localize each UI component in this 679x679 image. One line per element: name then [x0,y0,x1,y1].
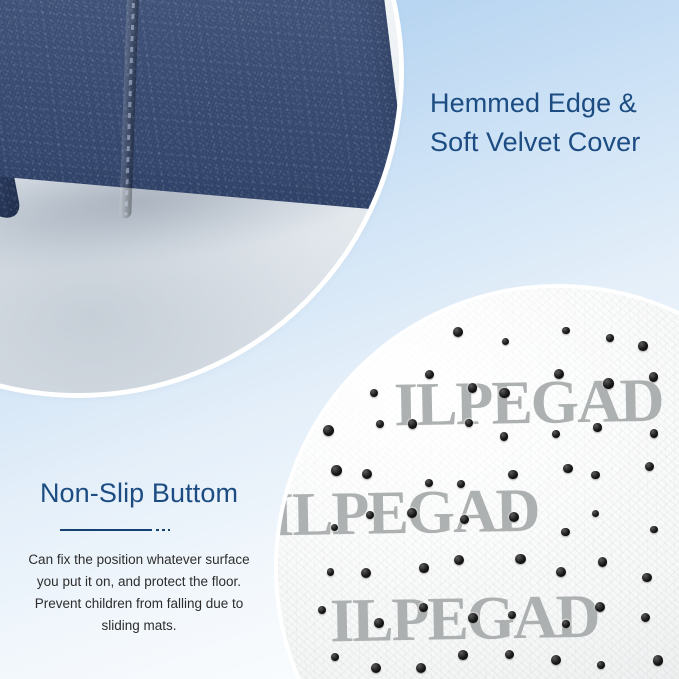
description-line-3: Prevent children from falling due to [14,593,264,615]
anti-slip-dot [653,655,664,666]
anti-slip-dot [515,554,525,564]
anti-slip-dot [460,515,469,524]
anti-slip-dot [593,423,601,431]
anti-slip-dot [407,508,417,518]
heading-line-1: Hemmed Edge & [430,84,679,123]
anti-slip-dot [419,603,428,612]
anti-slip-dot [499,388,509,398]
hemmed-edge-heading: Hemmed Edge & Soft Velvet Cover [430,84,679,162]
anti-slip-dot [603,378,614,389]
anti-slip-dot [642,573,652,583]
anti-slip-dot [327,568,334,575]
non-slip-title: Non-Slip Buttom [14,478,264,509]
anti-slip-dot [650,429,659,438]
anti-slip-dot [376,420,384,428]
anti-slip-dot [416,663,426,673]
anti-slip-dot [562,620,570,628]
anti-slip-dot [641,613,650,622]
anti-slip-dot [362,469,372,479]
anti-slip-dot [508,611,516,619]
anti-slip-dot [454,555,464,565]
non-slip-text-block: Non-Slip Buttom Can fix the position wha… [14,478,264,636]
description-line-4: sliding mats. [14,615,264,637]
anti-slip-dot [458,650,468,660]
anti-slip-dot [457,480,465,488]
anti-slip-dot [508,470,517,479]
anti-slip-dot [500,432,508,440]
anti-slip-dot [408,419,417,428]
anti-slip-dot [551,655,561,665]
non-slip-description: Can fix the position whatever surface yo… [14,549,264,636]
anti-slip-dot [331,524,339,532]
velvet-pile-texture [0,0,399,213]
anti-slip-dot [562,327,569,334]
cushion-front-panel [0,0,399,213]
anti-slip-dot [591,471,600,480]
anti-slip-dot [425,370,434,379]
anti-slip-dot [649,372,658,381]
anti-slip-dot [606,334,614,342]
divider-dots [156,529,170,531]
anti-slip-dot [505,650,514,659]
anti-slip-dot [592,510,599,517]
description-line-1: Can fix the position whatever surface [14,549,264,571]
anti-slip-dot [419,563,429,573]
anti-slip-dot [371,663,381,673]
anti-slip-dot [597,661,605,669]
anti-slip-dot-pattern [278,288,679,679]
heading-line-2: Soft Velvet Cover [430,123,679,162]
anti-slip-dot [509,512,520,523]
anti-slip-dot [465,419,474,428]
anti-slip-dot [468,383,477,392]
description-line-2: you put it on, and protect the floor. [14,571,264,593]
anti-slip-dot [374,618,384,628]
non-slip-mat-photo-circle: ILPEGAD ILPEGAD ILPEGAD [278,288,679,679]
anti-slip-dot [645,462,654,471]
title-divider [14,521,264,539]
anti-slip-dot [331,465,342,476]
anti-slip-dot [552,430,560,438]
anti-slip-dot [556,567,566,577]
anti-slip-dot [502,338,509,345]
divider-line [60,529,152,531]
product-feature-panel: Hemmed Edge & Soft Velvet Cover ILPEGAD … [0,0,679,679]
anti-slip-dot [366,511,374,519]
anti-slip-dot [453,327,463,337]
anti-slip-dot [638,341,648,351]
anti-slip-dot [595,602,605,612]
anti-slip-dot [650,526,657,533]
anti-slip-dot [318,606,326,614]
anti-slip-dot [598,557,607,566]
anti-slip-dot [468,613,477,622]
anti-slip-dot [425,479,433,487]
anti-slip-dot [361,568,371,578]
anti-slip-dot [561,528,570,537]
anti-slip-dot [554,369,564,379]
anti-slip-dot [370,389,378,397]
anti-slip-dot [323,425,334,436]
anti-slip-dot [331,653,339,661]
anti-slip-dot [563,464,573,474]
